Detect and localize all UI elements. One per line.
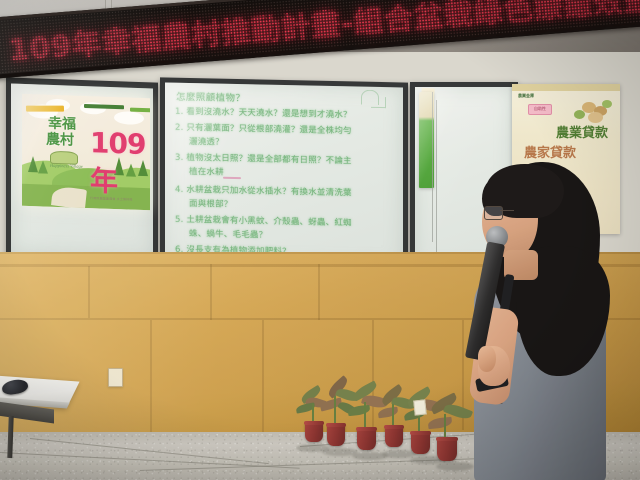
poster-title-1: 農業貸款 — [556, 122, 608, 141]
plant-pot-5 — [411, 432, 430, 454]
plant-pot-4 — [385, 426, 403, 447]
plant-pot-2 — [327, 424, 345, 446]
plant-pot-6 — [437, 438, 457, 461]
plant-pot-3 — [357, 428, 376, 450]
plant-label-tag — [413, 399, 427, 415]
presenter-glasses — [484, 206, 503, 220]
room-photo-scene: 幸福 農村 Happiness Village 109年 行政院農業委員會 水土… — [0, 0, 640, 480]
poster-org-logo: 農業金庫 — [518, 93, 534, 99]
plant-pot-1 — [305, 422, 323, 442]
poster-tag: 自助性 — [528, 104, 552, 115]
presenter — [462, 150, 640, 480]
